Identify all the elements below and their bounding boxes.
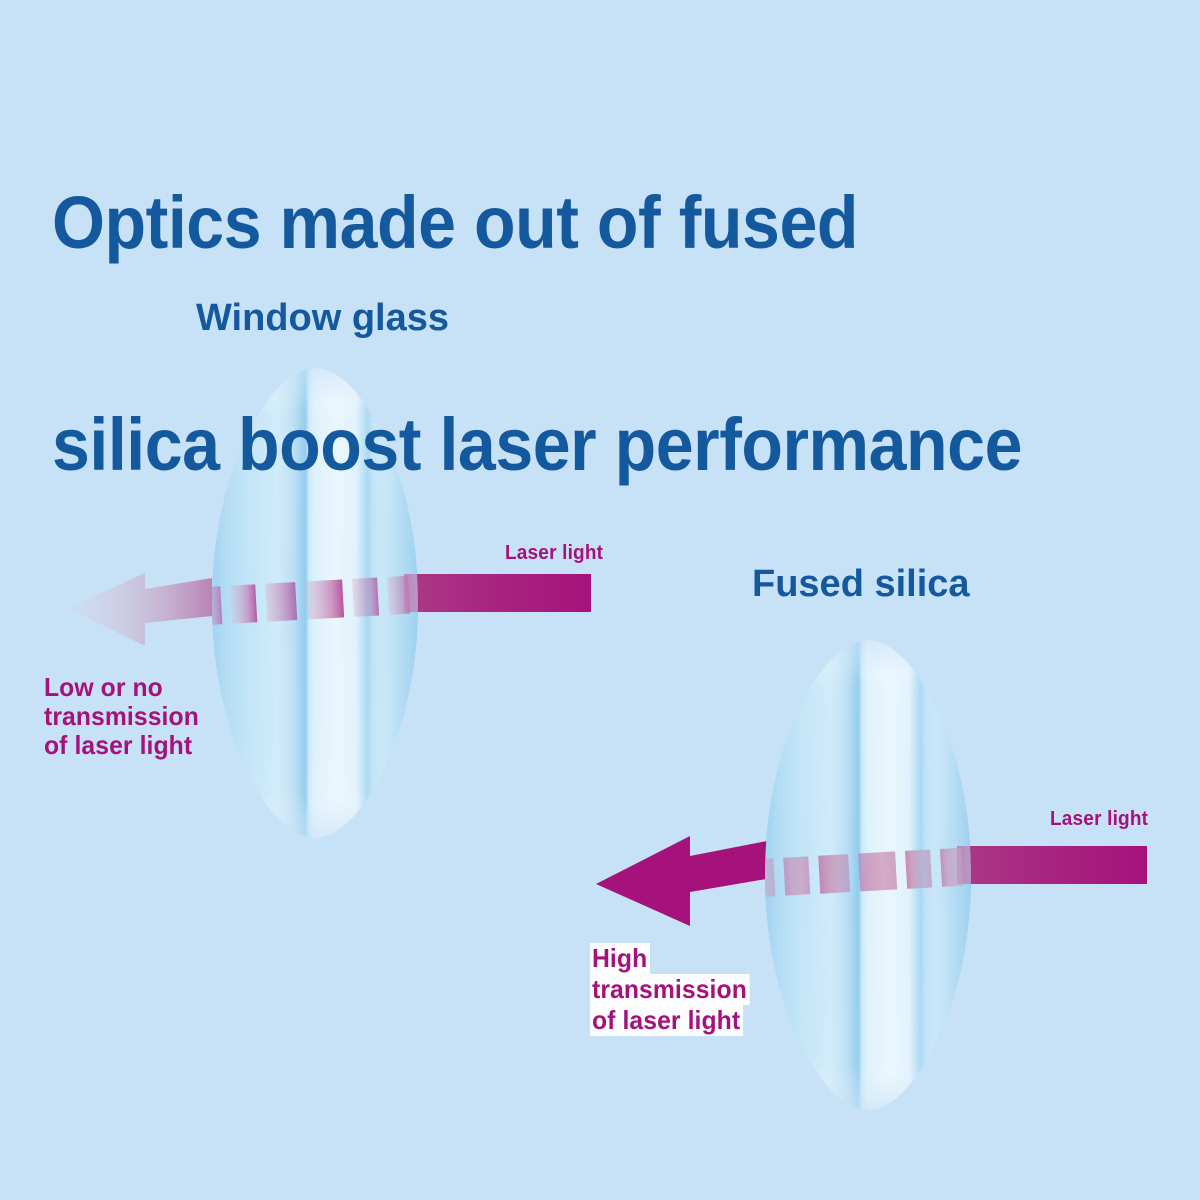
panel-fused-silica — [596, 634, 1147, 1116]
panel-heading-window-glass: Window glass — [196, 298, 449, 338]
page-title-line-1: Optics made out of fused — [52, 186, 1046, 260]
laser-light-label-fused-silica: Laser light — [1050, 808, 1148, 830]
laser-light-label-window-glass: Laser light — [505, 542, 603, 564]
incoming-beam-silica — [957, 846, 1147, 884]
caption-line: High — [590, 943, 650, 974]
panel-heading-fused-silica: Fused silica — [752, 564, 970, 604]
outgoing-beam-strong-silica — [596, 836, 772, 926]
beam-through-lens-silica — [748, 640, 991, 1110]
caption-line: transmission — [44, 702, 199, 731]
caption-high-transmission: High transmission of laser light — [592, 943, 750, 1036]
caption-low-transmission: Low or no transmission of laser light — [44, 673, 199, 760]
caption-line: of laser light — [590, 1005, 743, 1036]
caption-line: Low or no — [44, 673, 199, 702]
caption-line: transmission — [590, 974, 750, 1005]
caption-line: of laser light — [44, 731, 199, 760]
page-title-line-2: silica boost laser performance — [52, 408, 1046, 482]
infographic-root: Optics made out of fused silica boost la… — [0, 0, 1200, 1200]
